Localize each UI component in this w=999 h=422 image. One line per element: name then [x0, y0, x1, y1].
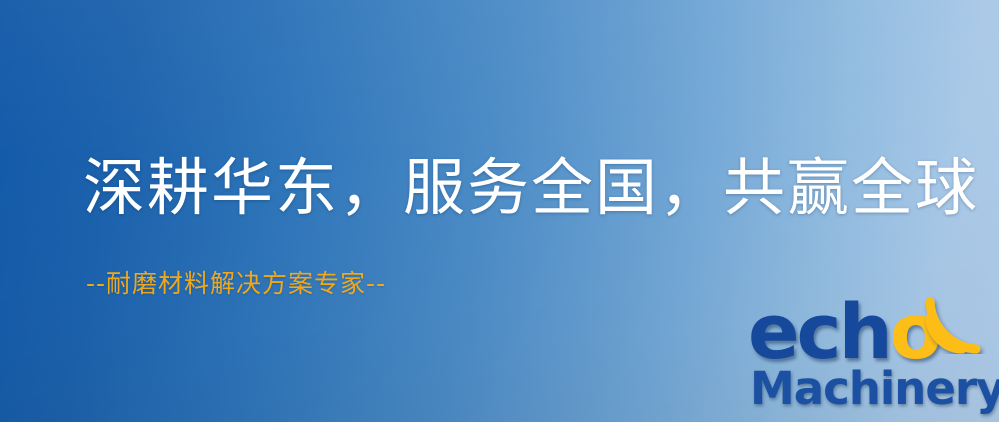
- signal-waves-icon: [920, 292, 986, 354]
- echo-machinery-logo[interactable]: echo Machinery®: [744, 296, 999, 422]
- logo-tagline-text: Machinery: [750, 362, 999, 415]
- logo-brand-text: echo: [748, 292, 939, 372]
- logo-tagline: Machinery®: [750, 362, 999, 415]
- hero-banner: 深耕华东，服务全国，共赢全球 --耐磨材料解决方案专家-- echo: [0, 0, 999, 422]
- banner-subtitle: --耐磨材料解决方案专家--: [86, 268, 386, 300]
- banner-headline: 深耕华东，服务全国，共赢全球: [83, 152, 979, 224]
